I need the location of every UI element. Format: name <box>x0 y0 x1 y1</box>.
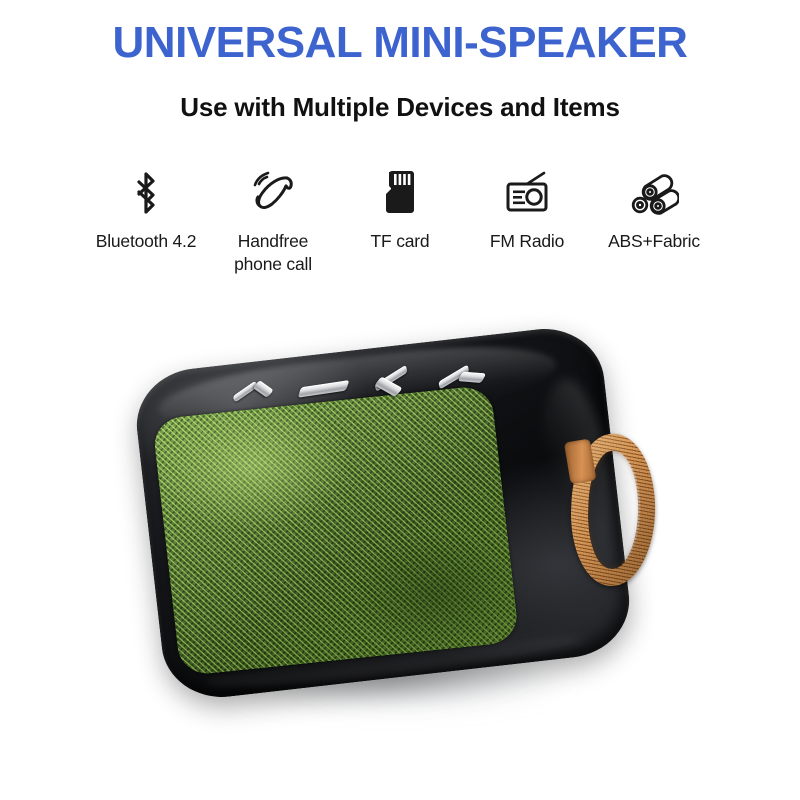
feature-label: TF card <box>371 230 430 253</box>
feature-label-line1: Handfree <box>238 231 308 251</box>
feature-list: Bluetooth 4.2 Handfree phone call <box>86 165 714 290</box>
feature-label: Bluetooth 4.2 <box>96 230 197 253</box>
feature-bluetooth: Bluetooth 4.2 <box>86 165 206 253</box>
feature-label-line2: phone call <box>234 254 312 274</box>
feature-label: ABS+Fabric <box>608 230 700 253</box>
bluetooth-speaker <box>131 322 635 703</box>
page-title: UNIVERSAL MINI-SPEAKER <box>0 18 800 68</box>
feature-label: Handfree phone call <box>234 230 312 276</box>
feature-handfree-call: Handfree phone call <box>213 165 333 276</box>
product-marketing-image: UNIVERSAL MINI-SPEAKER Use with Multiple… <box>0 0 800 800</box>
page-subtitle: Use with Multiple Devices and Items <box>0 92 800 123</box>
speaker-grille <box>152 385 519 676</box>
grille-weave-texture <box>152 385 519 676</box>
feature-abs-fabric: ABS+Fabric <box>594 165 714 253</box>
tf-card-icon <box>380 165 420 221</box>
feature-fm-radio: FM Radio <box>467 165 587 253</box>
fm-radio-icon <box>501 165 553 221</box>
carry-strap <box>568 432 659 588</box>
bluetooth-icon <box>128 165 164 221</box>
feature-label: FM Radio <box>490 230 564 253</box>
product-image <box>0 300 800 800</box>
feature-tf-card: TF card <box>340 165 460 253</box>
fabric-rolls-icon <box>629 165 679 221</box>
handfree-phone-icon <box>249 165 297 221</box>
